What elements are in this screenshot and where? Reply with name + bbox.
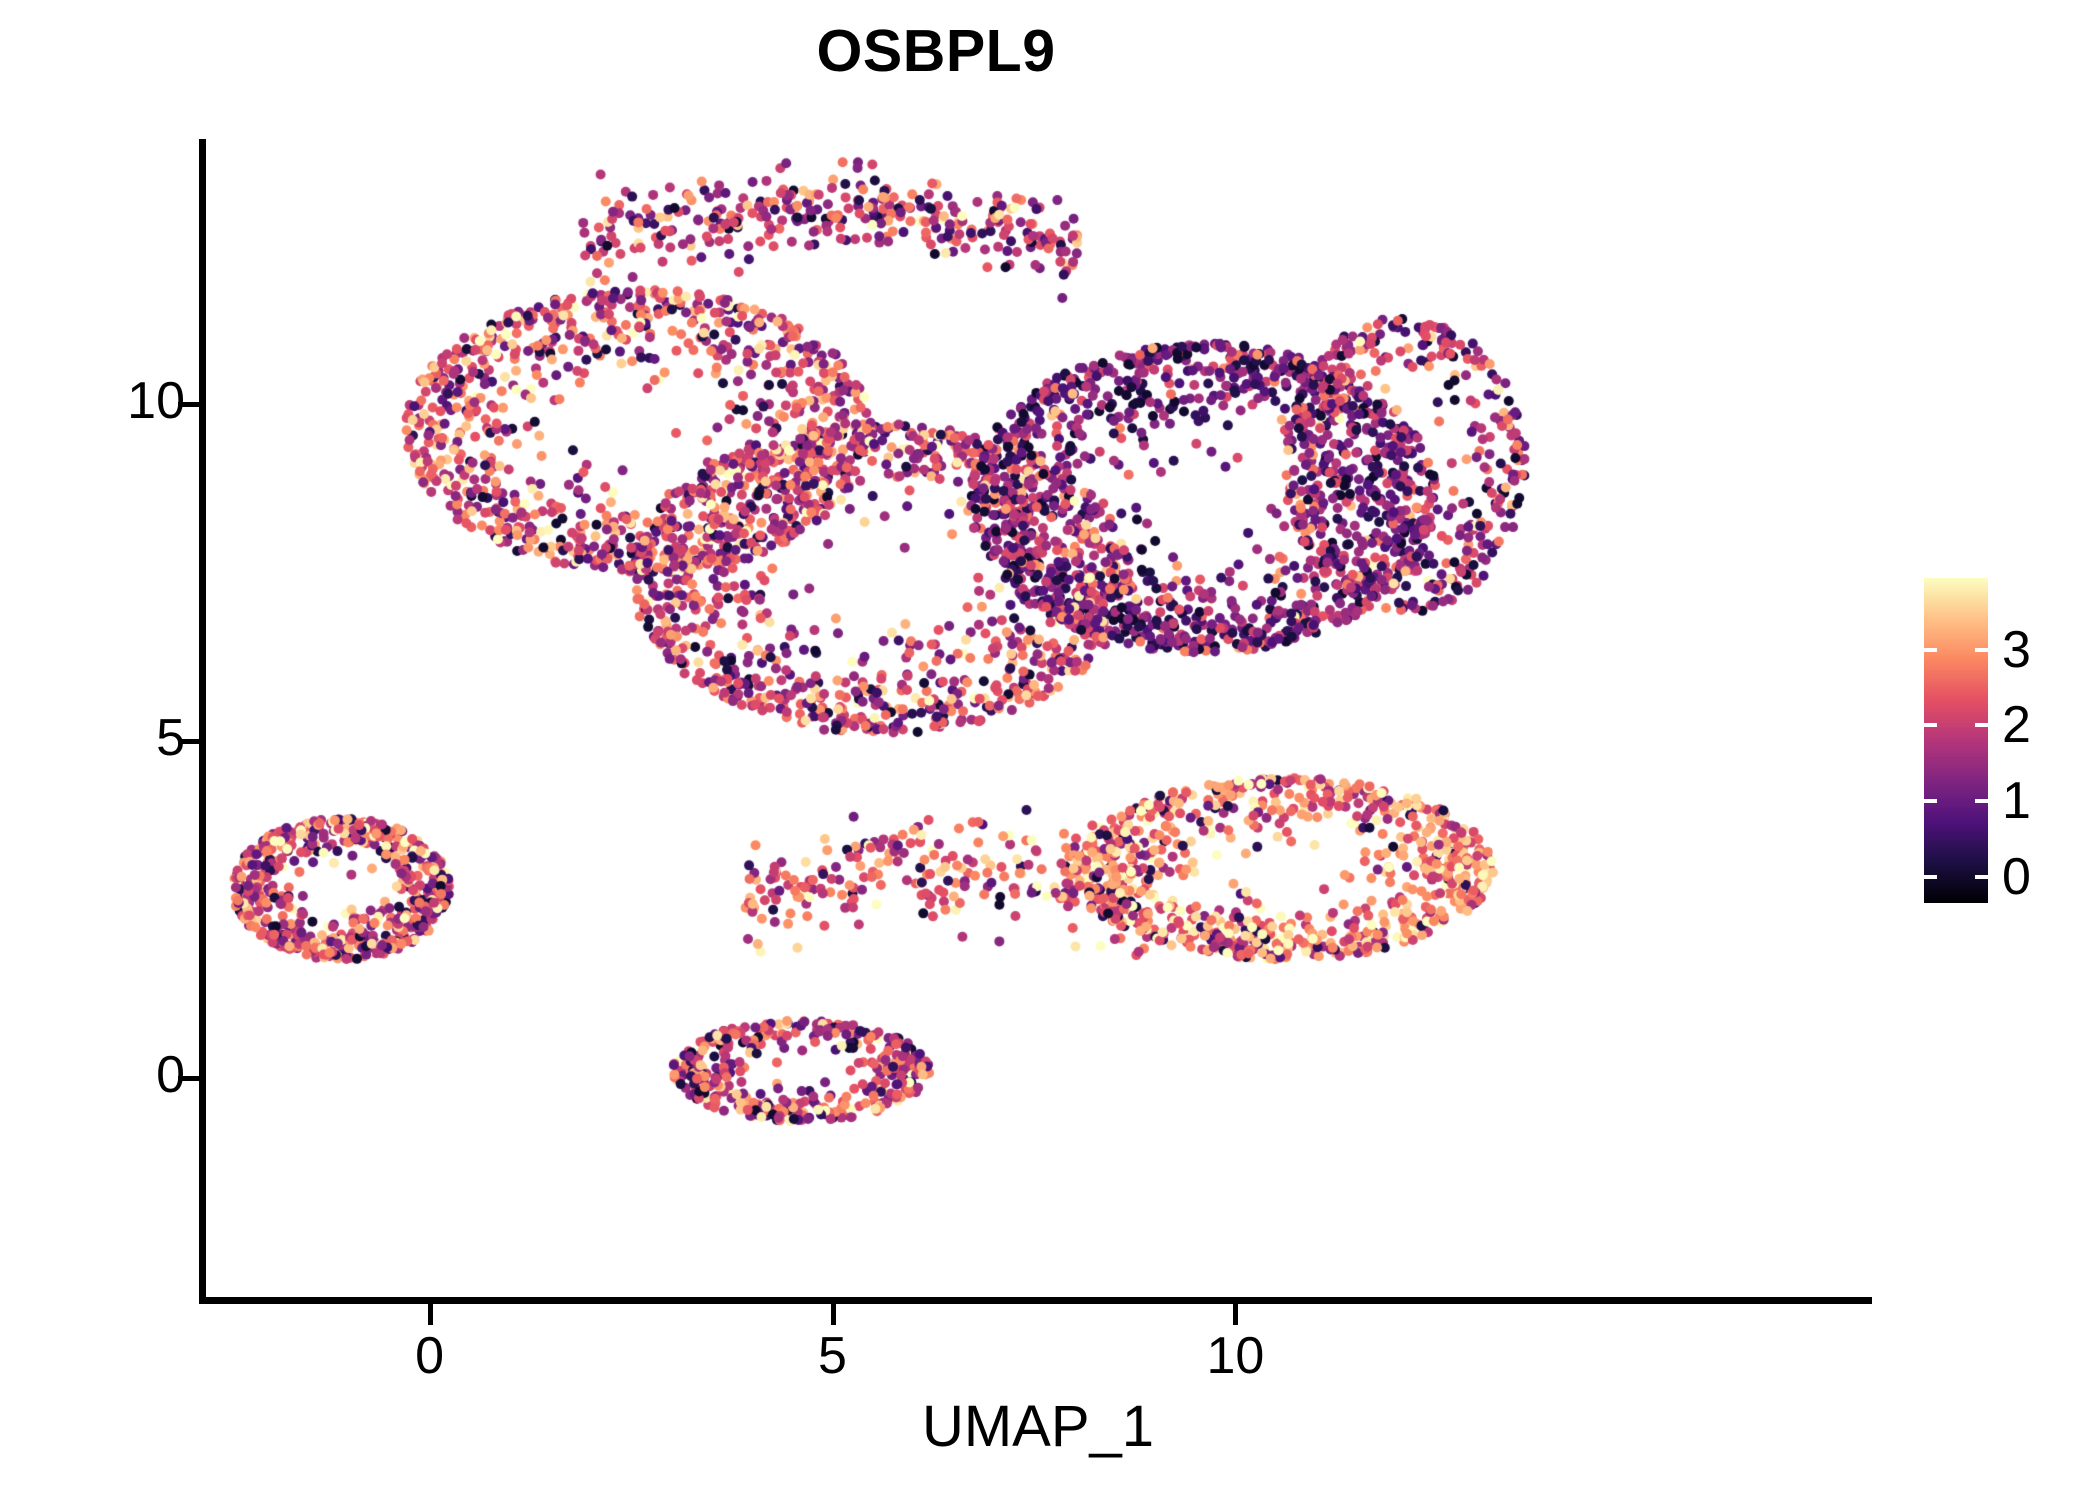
colorbar-tick-label: 2	[2002, 699, 2031, 751]
x-tick-mark	[1233, 1304, 1238, 1325]
y-axis-line	[199, 139, 206, 1304]
umap-scatter-figure: OSBPL9 0510 0510 UMAP_1 UMAP_2 0123	[0, 0, 2100, 1500]
colorbar-tick-label: 0	[2002, 851, 2031, 903]
colorbar-legend: 0123	[1924, 578, 2084, 903]
x-tick-label: 5	[753, 1329, 913, 1384]
x-tick-label: 10	[1155, 1329, 1315, 1384]
colorbar-tick-label: 1	[2002, 775, 2031, 827]
x-tick-mark	[831, 1304, 836, 1325]
x-tick-mark	[428, 1304, 433, 1325]
x-tick-label: 0	[350, 1329, 510, 1384]
plot-panel	[204, 141, 1872, 1300]
colorbar-tick-label: 3	[2002, 624, 2031, 676]
x-axis-line	[199, 1297, 1872, 1304]
x-axis-title: UMAP_1	[204, 1398, 1872, 1456]
page-title: OSBPL9	[0, 22, 1872, 81]
y-tick-label: 10	[0, 374, 185, 429]
colorbar-gradient	[1924, 578, 1988, 903]
y-tick-label: 0	[0, 1048, 185, 1103]
y-tick-label: 5	[0, 711, 185, 766]
scatter-points-layer	[204, 141, 1872, 1300]
